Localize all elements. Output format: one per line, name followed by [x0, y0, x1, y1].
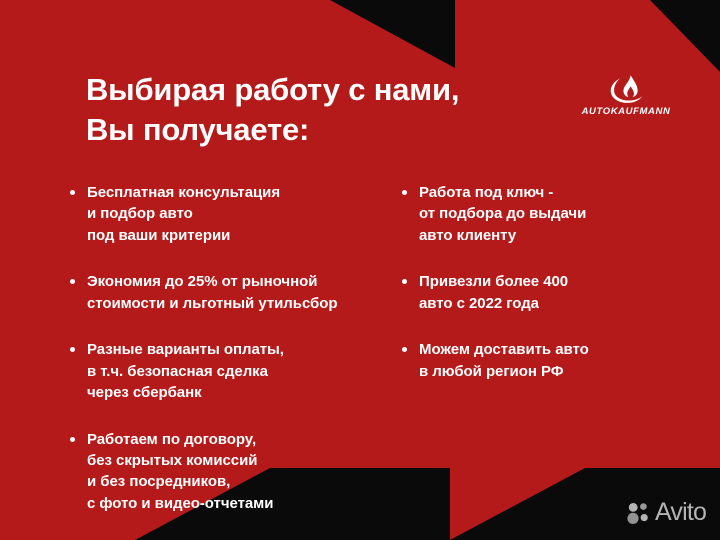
promo-banner: Выбирая работу с нами, Вы получаете: AUT… — [0, 0, 720, 540]
benefit-item: Разные варианты оплаты, в т.ч. безопасна… — [68, 339, 398, 403]
flame-swoosh-icon — [609, 74, 643, 104]
benefit-item: Работа под ключ - от подбора до выдачи а… — [400, 182, 700, 246]
avito-dots-icon — [627, 501, 651, 525]
logo-wordmark: AUTOKAUFMANN — [578, 107, 674, 117]
benefits-left-column: Бесплатная консультация и подбор авто по… — [68, 182, 398, 514]
benefit-item: Привезли более 400 авто с 2022 года — [400, 271, 700, 314]
benefit-item: Бесплатная консультация и подбор авто по… — [68, 182, 398, 246]
benefit-item: Работаем по договору, без скрытых комисс… — [68, 429, 398, 515]
benefit-item: Можем доставить авто в любой регион РФ — [400, 339, 700, 382]
benefit-item: Экономия до 25% от рыночной стоимости и … — [68, 271, 398, 314]
benefits-right-column: Работа под ключ - от подбора до выдачи а… — [400, 182, 700, 382]
brand-logo: AUTOKAUFMANN — [578, 74, 674, 117]
avito-watermark: Avito — [627, 500, 706, 525]
avito-wordmark: Avito — [655, 500, 706, 525]
page-title: Выбирая работу с нами, Вы получаете: — [86, 70, 556, 151]
